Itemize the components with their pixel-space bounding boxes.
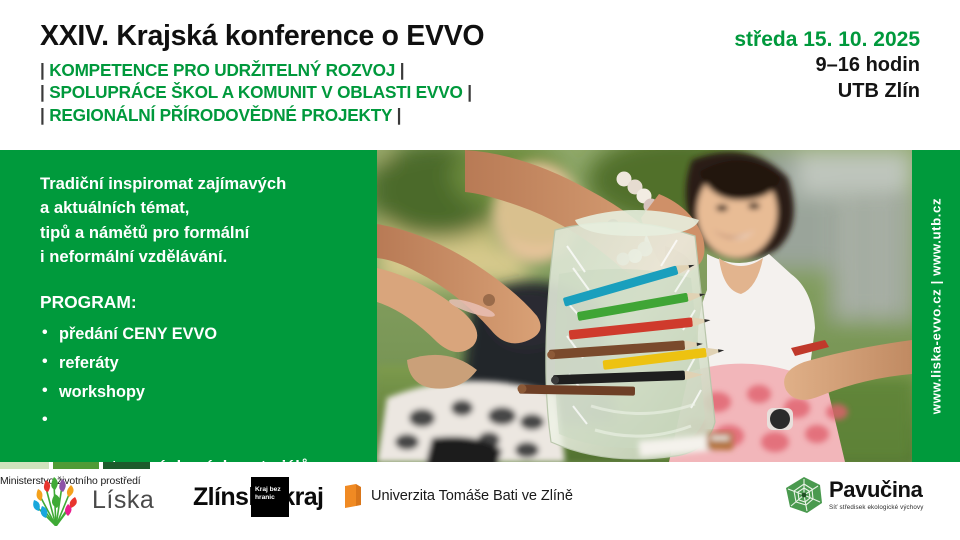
website-url-bar: www.liska-evvo.cz | www.utb.cz — [912, 150, 960, 462]
title-block: XXIV. Krajská konference o EVVO | KOMPET… — [40, 22, 484, 126]
subtitle-text-1: KOMPETENCE PRO UDRŽITELNÝ ROZVOJ — [49, 60, 395, 80]
event-venue: UTB Zlín — [734, 79, 920, 105]
pipe-separator-right: | — [400, 60, 405, 80]
ministerstvo-bar-dark — [103, 462, 150, 469]
logo-zlinsky-kraj[interactable]: Zlínský kraj Kraj bez hranic — [193, 481, 323, 513]
logo-utb[interactable]: Univerzita Tomáše Bati ve Zlíně — [345, 484, 573, 508]
subtitle-list: | KOMPETENCE PRO UDRŽITELNÝ ROZVOJ | | S… — [40, 59, 484, 126]
ministerstvo-bars-icon — [0, 462, 150, 469]
bullet-icon: • — [42, 380, 48, 403]
lede-line-2: a aktuálních témat, — [40, 196, 370, 220]
website-url-text[interactable]: www.liska-evvo.cz | www.utb.cz — [929, 198, 944, 414]
subtitle-line-2: | SPOLUPRÁCE ŠKOL A KOMUNIT V OBLASTI EV… — [40, 81, 484, 103]
pipe-separator-left: | — [40, 82, 45, 102]
bullet-icon: • — [42, 322, 48, 345]
program-heading: PROGRAM: — [40, 292, 370, 313]
ministerstvo-bar-light — [0, 462, 49, 469]
program-item-label: referáty — [59, 354, 119, 372]
event-details-block: středa 15. 10. 2025 9–16 hodin UTB Zlín — [734, 27, 920, 104]
liska-wordmark: Líska — [92, 486, 154, 515]
pipe-separator-right: | — [467, 82, 472, 102]
subtitle-line-3: | REGIONÁLNÍ PŘÍRODOVĚDNÉ PROJEKTY | — [40, 104, 484, 126]
pipe-separator-left: | — [40, 105, 45, 125]
ministerstvo-bar-mid — [53, 462, 100, 469]
program-item: • předání CENY EVVO — [40, 323, 370, 346]
pavucina-tagline: Síť středisek ekologické výchovy — [829, 504, 923, 511]
event-photo — [377, 150, 912, 462]
info-panel: Tradiční inspiromat zajímavých a aktuáln… — [0, 150, 377, 462]
program-item: • referáty — [40, 352, 370, 375]
program-item: • workshopy — [40, 381, 370, 404]
zlinsky-kraj-badge: Kraj bez hranic — [251, 477, 289, 517]
bullet-icon: • — [42, 409, 48, 432]
liska-tree-icon — [28, 474, 84, 526]
subtitle-line-1: | KOMPETENCE PRO UDRŽITELNÝ ROZVOJ | — [40, 59, 484, 81]
pipe-separator-left: | — [40, 60, 45, 80]
pipe-separator-right: | — [397, 105, 402, 125]
bullet-icon: • — [42, 351, 48, 374]
page-title: XXIV. Krajská konference o EVVO — [40, 22, 484, 52]
poster-header: XXIV. Krajská konference o EVVO | KOMPET… — [0, 0, 960, 150]
logo-liska[interactable]: Líska — [28, 474, 154, 526]
subtitle-text-3: REGIONÁLNÍ PŘÍRODOVĚDNÉ PROJEKTY — [49, 105, 392, 125]
utb-book-icon — [345, 484, 361, 508]
utb-wordmark: Univerzita Tomáše Bati ve Zlíně — [371, 488, 573, 504]
lede-line-3: tipů a námětů pro formální — [40, 221, 370, 245]
program-item-label: workshopy — [59, 383, 145, 401]
event-time: 9–16 hodin — [734, 53, 920, 79]
subtitle-text-2: SPOLUPRÁCE ŠKOL A KOMUNIT V OBLASTI EVVO — [49, 82, 462, 102]
lede-line-1: Tradiční inspiromat zajímavých — [40, 172, 370, 196]
pavucina-spiderweb-icon — [785, 476, 823, 514]
lede-line-4: i neformální vzdělávání. — [40, 245, 370, 269]
logo-pavucina[interactable]: Pavučina Síť středisek ekologické výchov… — [785, 476, 923, 514]
partner-logos-footer: Líska Zlínský kraj Kraj bez hranic Unive… — [0, 462, 960, 540]
program-item-label: předání CENY EVVO — [59, 325, 217, 343]
event-date: středa 15. 10. 2025 — [734, 27, 920, 53]
pavucina-wordmark: Pavučina — [829, 477, 922, 502]
